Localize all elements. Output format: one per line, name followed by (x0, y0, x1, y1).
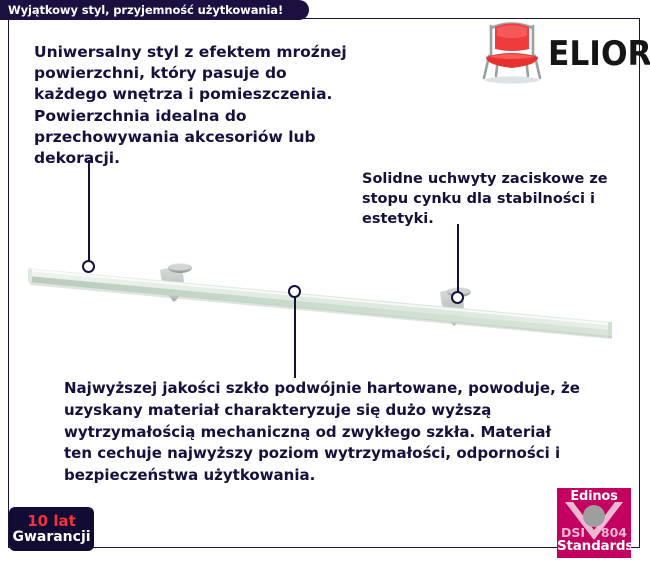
callout-text-frosted-surface: Uniwersalny styl z efektem mroźnej powie… (34, 42, 364, 169)
callout-dot-2 (288, 285, 301, 298)
callout-dot-3 (451, 291, 464, 304)
red-chair-icon (478, 16, 546, 86)
callout-text-zinc-brackets: Solidne uchwyty zaciskowe ze stopu cynku… (362, 170, 634, 230)
page-title: Wyjątkowy styl, przyjemność użytkowania! (8, 0, 283, 20)
warranty-years: 10 lat (27, 513, 76, 529)
callout-dot-1 (82, 260, 95, 273)
frosted-glass-shelf-photo (12, 246, 624, 356)
callout-text-tempered-glass: Najwyższej jakości szkło podwójnie harto… (64, 378, 584, 487)
brand-wordmark: ELIOR (548, 34, 650, 74)
brand-logo: ELIOR (478, 16, 638, 86)
warranty-label: Gwarancji (12, 529, 90, 545)
callout-line-2 (294, 296, 296, 378)
standards-badge: Edinos DSI 804 Standards (557, 488, 631, 558)
callout-line-3 (457, 224, 459, 298)
header-ribbon: Wyjątkowy styl, przyjemność użytkowania! (0, 0, 309, 20)
promo-infographic-page: Wyjątkowy styl, przyjemność użytkowania! (0, 0, 650, 564)
standards-label: Standards (557, 538, 631, 554)
callout-line-1 (88, 160, 90, 264)
warranty-badge: 10 lat Gwarancji (10, 508, 93, 550)
